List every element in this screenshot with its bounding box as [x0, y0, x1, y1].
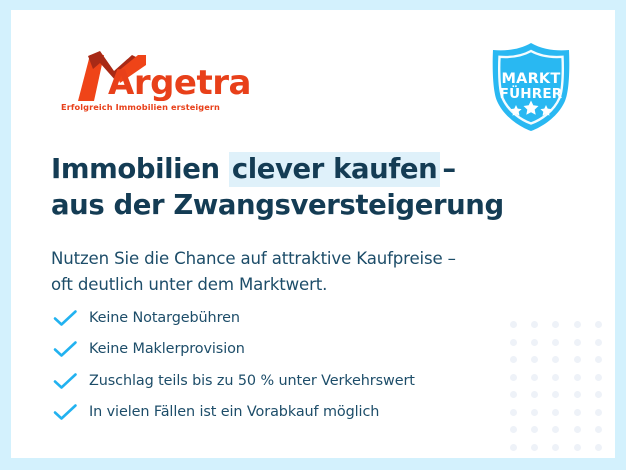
market-leader-badge: MARKT FÜHRER	[485, 41, 577, 133]
headline-line-1: Immobilien clever kaufen–	[51, 152, 521, 187]
benefit-label: Zuschlag teils bis zu 50 % unter Verkehr…	[89, 373, 415, 389]
benefit-label: In vielen Fällen ist ein Vorabkauf mögli…	[89, 404, 379, 420]
benefit-label: Keine Notargebühren	[89, 310, 240, 326]
subheading-line-1: Nutzen Sie die Chance auf attraktive Kau…	[51, 246, 551, 273]
benefits-list: Keine Notargebühren Keine Maklerprovisio…	[53, 302, 523, 428]
headline-line-1-dash: –	[440, 153, 455, 185]
svg-text:Argetra: Argetra	[108, 63, 251, 101]
benefit-label: Keine Maklerprovision	[89, 341, 245, 357]
list-item: Keine Notargebühren	[53, 302, 523, 334]
argetra-logo-icon: Argetra	[60, 49, 260, 101]
check-icon	[53, 309, 78, 327]
headline-line-1-pre: Immobilien	[51, 153, 229, 185]
brand-logo[interactable]: Argetra Erfolgreich Immobilien ersteiger…	[60, 49, 260, 112]
headline-highlight: clever kaufen	[229, 152, 441, 187]
check-icon	[53, 403, 78, 421]
subheading: Nutzen Sie die Chance auf attraktive Kau…	[51, 246, 551, 300]
headline: Immobilien clever kaufen– aus der Zwangs…	[51, 152, 521, 222]
list-item: In vielen Fällen ist ein Vorabkauf mögli…	[53, 397, 523, 429]
svg-text:MARKT: MARKT	[502, 71, 561, 87]
logo-tagline: Erfolgreich Immobilien ersteigern	[61, 102, 260, 112]
list-item: Keine Maklerprovision	[53, 334, 523, 366]
svg-text:FÜHRER: FÜHRER	[500, 84, 563, 102]
list-item: Zuschlag teils bis zu 50 % unter Verkehr…	[53, 365, 523, 397]
subheading-line-2: oft deutlich unter dem Marktwert.	[51, 272, 551, 299]
ad-frame: Argetra Erfolgreich Immobilien ersteiger…	[0, 0, 626, 470]
check-icon	[53, 372, 78, 390]
headline-line-2: aus der Zwangsversteigerung	[51, 188, 521, 223]
ad-card: Argetra Erfolgreich Immobilien ersteiger…	[11, 10, 615, 458]
check-icon	[53, 340, 78, 358]
